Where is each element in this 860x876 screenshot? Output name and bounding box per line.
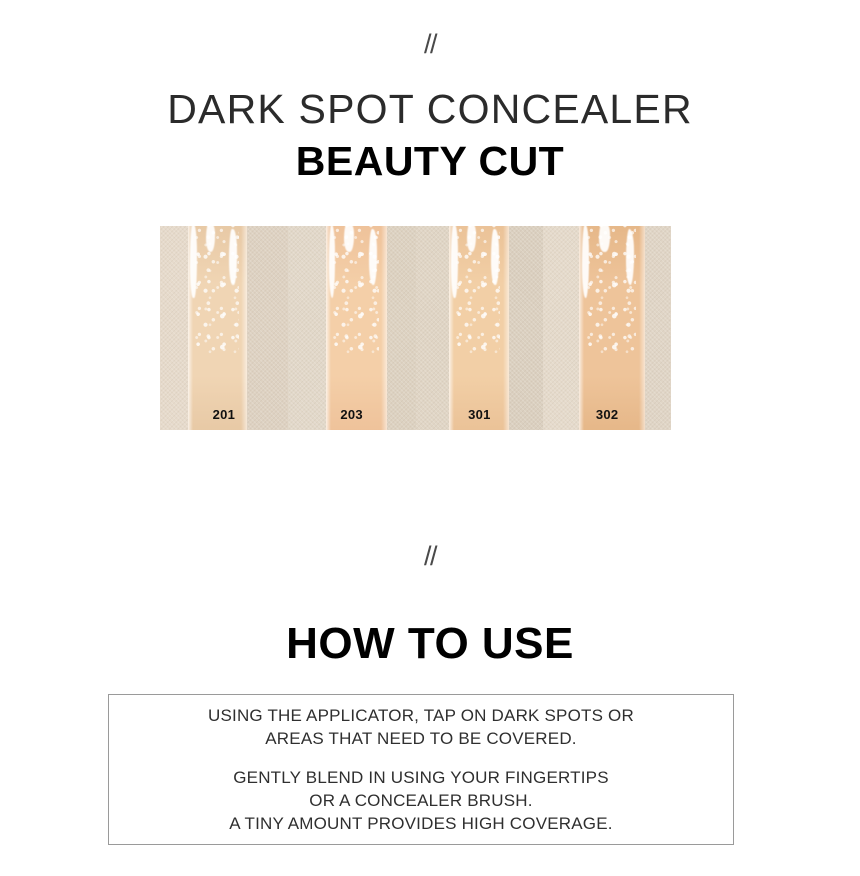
shade-swatch-photo: 201203301302 xyxy=(160,226,671,430)
slash-divider-top: // xyxy=(0,29,860,59)
shade-label: 302 xyxy=(543,407,671,422)
swatch-product-stripe xyxy=(326,226,387,430)
slash-divider-middle: // xyxy=(0,541,860,571)
swatch-column: 302 xyxy=(543,226,671,430)
shade-label: 301 xyxy=(416,407,544,422)
shade-label: 201 xyxy=(160,407,288,422)
swatch-column: 201 xyxy=(160,226,288,430)
how-to-use-heading: HOW TO USE xyxy=(0,617,860,671)
product-detail-page: // DARK SPOT CONCEALER BEAUTY CUT 201203… xyxy=(0,0,860,876)
title-line-brand: BEAUTY CUT xyxy=(0,136,860,186)
swatch-highlight-smear xyxy=(190,226,196,298)
swatch-highlight-smear xyxy=(582,226,589,298)
swatch-highlight-smear xyxy=(369,229,377,285)
instruction-paragraph: USING THE APPLICATOR, TAP ON DARK SPOTS … xyxy=(208,704,634,750)
swatch-column: 301 xyxy=(416,226,544,430)
swatch-product-stripe xyxy=(449,226,509,430)
swatch-highlight-smear xyxy=(451,226,458,298)
swatch-product-stripe xyxy=(579,226,645,430)
swatch-highlight-smear xyxy=(599,226,610,252)
swatch-column: 203 xyxy=(288,226,416,430)
page-title: DARK SPOT CONCEALER BEAUTY CUT xyxy=(0,84,860,186)
title-line-product: DARK SPOT CONCEALER xyxy=(0,84,860,134)
swatch-product-stripe xyxy=(188,226,247,430)
shade-label: 203 xyxy=(288,407,416,422)
swatch-highlight-smear xyxy=(491,229,499,285)
instruction-paragraph: GENTLY BLEND IN USING YOUR FINGERTIPS OR… xyxy=(229,766,612,835)
swatch-highlight-smear xyxy=(626,229,635,285)
how-to-use-box: USING THE APPLICATOR, TAP ON DARK SPOTS … xyxy=(108,694,734,845)
swatch-highlight-smear xyxy=(229,229,237,285)
